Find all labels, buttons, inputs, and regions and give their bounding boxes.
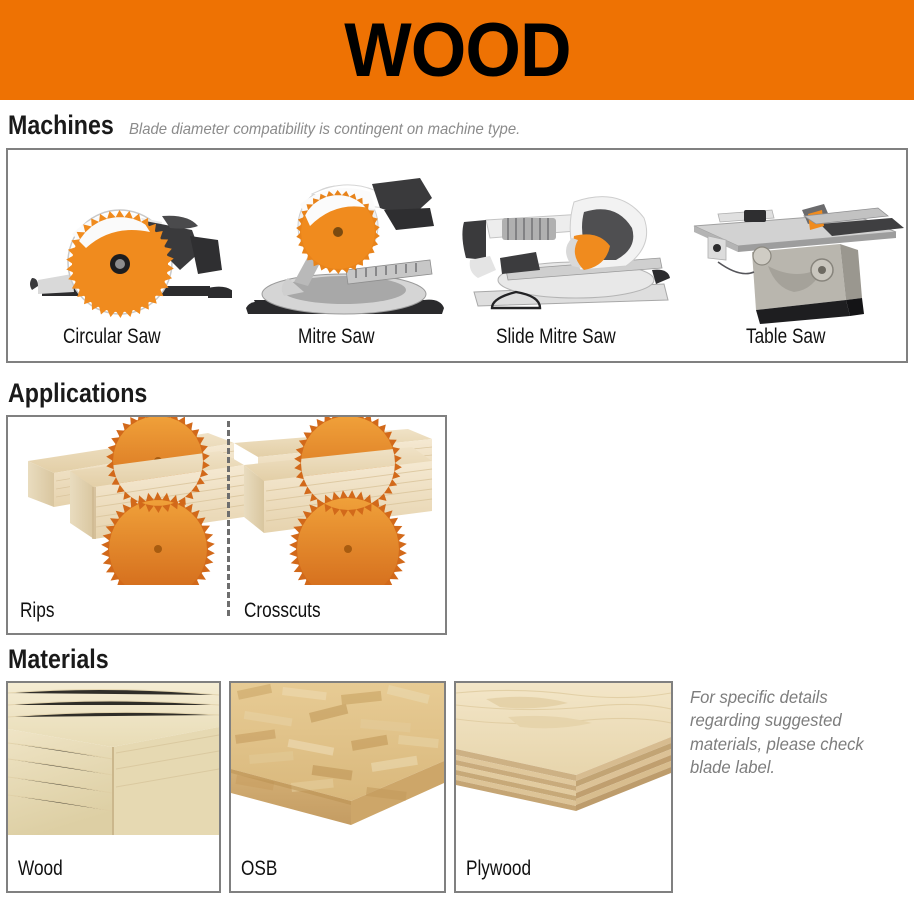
application-label-crosscuts: Crosscuts (244, 600, 321, 621)
machine-item-table-saw[interactable]: Table Saw (682, 150, 906, 361)
material-panel-plywood[interactable]: Plywood (454, 681, 673, 893)
machine-label: Mitre Saw (298, 326, 375, 347)
plywood-texture (456, 683, 671, 835)
machines-panel: Circular Saw (6, 148, 908, 363)
applications-divider (227, 421, 230, 616)
applications-panel: Rips Crosscuts (6, 415, 447, 635)
material-label: OSB (241, 858, 277, 879)
material-label: Plywood (466, 858, 531, 879)
solid-wood-texture (8, 683, 219, 835)
machine-item-mitre-saw[interactable]: Mitre Saw (234, 150, 456, 361)
machine-label: Slide Mitre Saw (496, 326, 616, 347)
mitre-saw-icon (234, 174, 456, 326)
application-label-rips: Rips (20, 600, 54, 621)
materials-note: For specific details regarding suggested… (690, 686, 897, 779)
applications-heading-text: Applications (8, 380, 147, 407)
osb-texture (231, 683, 444, 835)
machines-note-text: Blade diameter compatibility is continge… (129, 122, 520, 138)
machine-label: Table Saw (746, 326, 825, 347)
material-panel-wood[interactable]: Wood (6, 681, 221, 893)
page-header: WOOD (0, 0, 914, 100)
slide-mitre-saw-icon (456, 174, 682, 326)
applications-section-heading: Applications (8, 380, 170, 407)
machines-heading-text: Machines (8, 112, 114, 139)
machine-label: Circular Saw (63, 326, 161, 347)
materials-section-heading: Materials (8, 646, 125, 673)
machine-item-slide-mitre-saw[interactable]: Slide Mitre Saw (456, 150, 682, 361)
machines-section-heading: Machines Blade diameter compatibility is… (8, 112, 550, 139)
material-panel-osb[interactable]: OSB (229, 681, 446, 893)
circular-saw-icon (12, 174, 234, 326)
materials-heading-text: Materials (8, 646, 109, 673)
page-title: WOOD (344, 13, 570, 89)
material-label: Wood (18, 858, 63, 879)
table-saw-icon (682, 174, 906, 326)
machine-item-circular-saw[interactable]: Circular Saw (12, 150, 234, 361)
